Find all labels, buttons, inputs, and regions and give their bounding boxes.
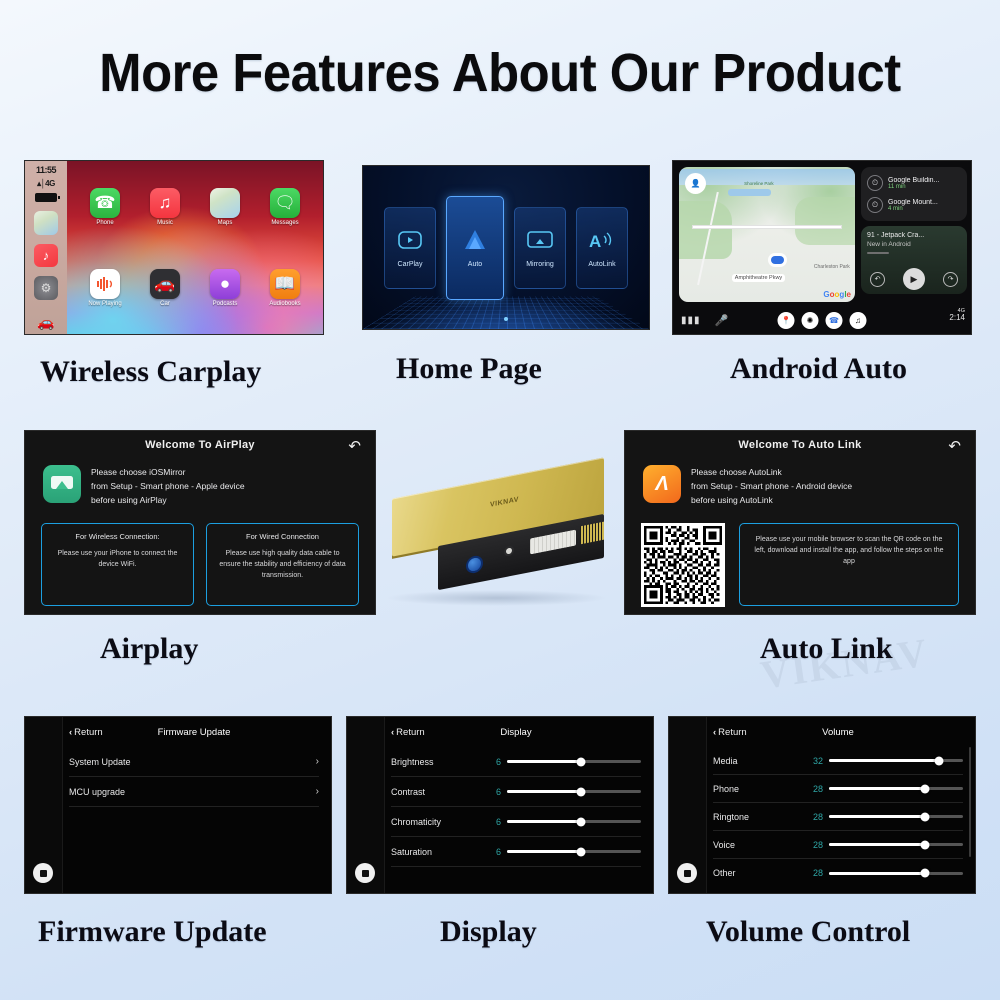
home-card-label: Auto xyxy=(468,261,482,268)
android-auto-icon xyxy=(460,227,490,253)
phone-volume-slider[interactable] xyxy=(829,787,963,790)
apps-grid-icon[interactable]: ▮▮▮ xyxy=(681,315,701,326)
audiobooks-icon: 📖 xyxy=(270,269,300,299)
media-icon[interactable]: ♫ xyxy=(850,312,867,329)
app-label: Podcasts xyxy=(213,301,238,307)
microphone-icon[interactable]: 🎤 xyxy=(715,314,729,327)
box-text: Please use high quality data cable to en… xyxy=(215,548,350,582)
other-volume-slider[interactable] xyxy=(829,872,963,875)
chromaticity-slider[interactable] xyxy=(507,820,641,823)
clock-icon: ⏲ xyxy=(867,197,883,213)
left-rail xyxy=(669,717,707,893)
item-value: 28 xyxy=(799,784,823,794)
time-label: 2:14 xyxy=(949,314,965,323)
carplay-screen[interactable]: 11:55 ▴│4G ♪ ⚙ 🚗 ☎ Phone ♫ Music Maps 🗨 … xyxy=(24,160,324,335)
messages-icon: 🗨 xyxy=(270,188,300,218)
app-label: Maps xyxy=(218,220,233,226)
destination-row[interactable]: ⏲ Google Buildin... 11 min xyxy=(867,172,961,194)
box-heading: For Wired Connection xyxy=(215,532,350,541)
app-label: Car xyxy=(160,301,170,307)
carplay-icon xyxy=(395,227,425,253)
destinations-panel: ⏲ Google Buildin... 11 min ⏲ Google Moun… xyxy=(861,167,967,221)
caption-firmware-update: Firmware Update xyxy=(38,915,267,949)
carplay-app-car[interactable]: 🚗 Car xyxy=(135,248,195,329)
volume-settings-screen[interactable]: Volume ‹Return Media 32 Phone 28 Rington… xyxy=(668,716,976,894)
display-settings-screen[interactable]: Display ‹Return Brightness 6 Contrast 6 … xyxy=(346,716,654,894)
caption-airplay: Airplay xyxy=(100,632,198,666)
map-view[interactable]: Shoreline Park Amphitheatre Pkwy Charles… xyxy=(679,167,855,302)
item-value: 6 xyxy=(477,787,501,797)
product-device-image: VIKNAV xyxy=(378,452,622,612)
item-label: Other xyxy=(713,868,799,878)
home-page-screen[interactable]: CarPlay Auto Mirroring A AutoLink xyxy=(362,165,650,330)
autolink-instruction: Please choose AutoLink from Setup - Smar… xyxy=(691,465,852,507)
item-label: Saturation xyxy=(391,847,477,857)
home-card-auto[interactable]: Auto xyxy=(446,196,504,300)
page-title: More Features About Our Product xyxy=(30,42,970,104)
status-clock: 4G 2:14 xyxy=(949,308,965,323)
screen-title: Display xyxy=(391,727,641,738)
media-progress[interactable] xyxy=(867,252,889,254)
slider-row[interactable]: Other 28 xyxy=(713,859,963,887)
app-label: Phone xyxy=(96,220,113,226)
car-icon[interactable]: 🚗 xyxy=(34,310,58,334)
location-puck-icon xyxy=(771,256,784,264)
airplay-title: Welcome To AirPlay xyxy=(25,439,375,451)
item-label: Media xyxy=(713,756,799,766)
contrast-slider[interactable] xyxy=(507,790,641,793)
screen-title: Volume xyxy=(713,727,963,738)
phone-icon[interactable]: ☎ xyxy=(826,312,843,329)
home-card-label: CarPlay xyxy=(398,261,423,268)
saturation-slider[interactable] xyxy=(507,850,641,853)
carplay-app-messages[interactable]: 🗨 Messages xyxy=(255,167,315,248)
destination-name: Google Mount... xyxy=(888,199,938,206)
page-indicator-dot xyxy=(504,317,508,321)
settings-icon[interactable]: ⚙ xyxy=(34,276,58,300)
autolink-instruction-box: Please use your mobile browser to scan t… xyxy=(739,523,959,606)
box-text: Please use your iPhone to connect the de… xyxy=(50,548,185,570)
autolink-screen[interactable]: Welcome To Auto Link ↶ Λ Please choose A… xyxy=(624,430,976,615)
wired-connection-box: For Wired Connection Please use high qua… xyxy=(206,523,359,606)
instruction-line: before using AirPlay xyxy=(91,493,245,507)
carplay-app-grid: ☎ Phone ♫ Music Maps 🗨 Messages xyxy=(67,161,323,334)
item-value: 32 xyxy=(799,756,823,766)
caption-display: Display xyxy=(440,915,537,949)
map-place-label: Amphitheatre Pkwy xyxy=(732,274,785,282)
item-value: 6 xyxy=(477,817,501,827)
destination-name: Google Buildin... xyxy=(888,177,939,184)
caption-auto-link: Auto Link xyxy=(760,632,893,666)
scrollbar[interactable] xyxy=(969,747,971,857)
svg-text:A: A xyxy=(589,232,601,250)
slider-row[interactable]: Chromaticity 6 xyxy=(391,807,641,837)
voice-volume-slider[interactable] xyxy=(829,843,963,846)
box-text: Please use your mobile browser to scan t… xyxy=(750,534,948,568)
return-label: Return xyxy=(74,727,103,738)
caption-android-auto: Android Auto xyxy=(730,352,907,386)
instruction-line: before using AutoLink xyxy=(691,493,852,507)
media-card[interactable]: 91 - Jetpack Cra... New in Android ↶ ▶ ↷ xyxy=(861,226,967,294)
wireless-connection-box: For Wireless Connection: Please use your… xyxy=(41,523,194,606)
left-rail xyxy=(25,717,63,893)
firmware-update-screen[interactable]: Firmware Update ‹Return System Update › … xyxy=(24,716,332,894)
carplay-app-maps[interactable]: Maps xyxy=(195,167,255,248)
back-arrow-icon[interactable]: ↶ xyxy=(948,437,961,455)
media-title: 91 - Jetpack Cra... xyxy=(867,232,961,239)
media-subtitle: New in Android xyxy=(867,241,961,248)
ringtone-volume-slider[interactable] xyxy=(829,815,963,818)
rewind-icon[interactable]: ↶ xyxy=(870,272,885,287)
slider-row[interactable]: Saturation 6 xyxy=(391,837,641,867)
clock-icon: ⏲ xyxy=(867,175,883,191)
return-button[interactable]: ‹Return xyxy=(391,727,425,738)
battery-icon xyxy=(35,193,57,202)
slider-row[interactable]: Brightness 6 xyxy=(391,747,641,777)
instruction-line: from Setup - Smart phone - Android devic… xyxy=(691,479,852,493)
carplay-app-now-playing[interactable]: Now Playing xyxy=(75,248,135,329)
app-label: Audiobooks xyxy=(269,301,300,307)
chevron-right-icon: › xyxy=(316,786,319,797)
android-auto-taskbar[interactable]: ▮▮▮ 🎤 📍 ✺ ☎ ♫ 4G 2:14 xyxy=(673,306,971,334)
return-button[interactable]: ‹Return xyxy=(69,727,103,738)
home-card-autolink[interactable]: A AutoLink xyxy=(576,207,628,289)
account-icon[interactable]: 👤 xyxy=(685,173,706,194)
music-icon[interactable]: ♪ xyxy=(34,244,58,268)
app-label: Now Playing xyxy=(88,301,121,307)
google-logo: Google xyxy=(823,290,851,299)
autolink-title: Welcome To Auto Link xyxy=(625,439,975,451)
home-button[interactable] xyxy=(677,863,697,883)
media-volume-slider[interactable] xyxy=(829,759,963,762)
carplay-time: 11:55 xyxy=(36,165,56,175)
map-poi-label: Shoreline Park xyxy=(744,181,774,186)
return-label: Return xyxy=(396,727,425,738)
carplay-app-phone[interactable]: ☎ Phone xyxy=(75,167,135,248)
item-value: 28 xyxy=(799,868,823,878)
list-item[interactable]: MCU upgrade › xyxy=(69,777,319,807)
app-label: Messages xyxy=(271,220,298,226)
item-value: 28 xyxy=(799,840,823,850)
home-card-label: Mirroring xyxy=(526,261,554,268)
instruction-line: from Setup - Smart phone - Apple device xyxy=(91,479,245,493)
maps-icon xyxy=(210,188,240,218)
mirroring-icon xyxy=(525,227,555,253)
item-label: Brightness xyxy=(391,757,477,767)
slider-row[interactable]: Voice 28 xyxy=(713,831,963,859)
now-playing-icon xyxy=(90,269,120,299)
forward-icon[interactable]: ↷ xyxy=(943,272,958,287)
list-item[interactable]: System Update › xyxy=(69,747,319,777)
item-value: 28 xyxy=(799,812,823,822)
map-greenspace xyxy=(795,197,855,245)
maps-icon[interactable] xyxy=(34,211,58,235)
destination-eta: 4 min xyxy=(888,206,938,212)
music-icon: ♫ xyxy=(150,188,180,218)
play-icon[interactable]: ▶ xyxy=(903,268,925,290)
left-rail xyxy=(347,717,385,893)
carplay-signal: ▴│4G xyxy=(37,179,55,188)
return-button[interactable]: ‹Return xyxy=(713,727,747,738)
phone-icon: ☎ xyxy=(90,188,120,218)
item-label: Contrast xyxy=(391,787,477,797)
instruction-line: Please choose iOSMirror xyxy=(91,465,245,479)
home-card-carplay[interactable]: CarPlay xyxy=(384,207,436,289)
app-label: Music xyxy=(157,220,173,226)
android-auto-screen[interactable]: Shoreline Park Amphitheatre Pkwy Charles… xyxy=(672,160,972,335)
caption-volume-control: Volume Control xyxy=(706,915,910,949)
slider-row[interactable]: Phone 28 xyxy=(713,775,963,803)
caption-wireless-carplay: Wireless Carplay xyxy=(40,355,261,389)
carplay-app-podcasts[interactable]: ● Podcasts xyxy=(195,248,255,329)
caption-home-page: Home Page xyxy=(396,352,542,386)
autolink-icon: A xyxy=(587,227,617,253)
destination-eta: 11 min xyxy=(888,184,939,190)
item-label: Phone xyxy=(713,784,799,794)
slider-row[interactable]: Media 32 xyxy=(713,747,963,775)
carplay-sidebar[interactable]: 11:55 ▴│4G ♪ ⚙ 🚗 xyxy=(25,161,67,334)
item-label: Chromaticity xyxy=(391,817,477,827)
airplay-instruction: Please choose iOSMirror from Setup - Sma… xyxy=(91,465,245,507)
autolink-icon: Λ xyxy=(643,465,681,503)
item-value: 6 xyxy=(477,847,501,857)
home-button[interactable] xyxy=(33,863,53,883)
instruction-line: Please choose AutoLink xyxy=(691,465,852,479)
screen-title: Firmware Update xyxy=(69,727,319,738)
item-label: Voice xyxy=(713,840,799,850)
box-heading: For Wireless Connection: xyxy=(50,532,185,541)
map-secondary-label: Charleston Park xyxy=(814,264,850,270)
google-icon[interactable]: ✺ xyxy=(802,312,819,329)
car-icon: 🚗 xyxy=(150,269,180,299)
podcasts-icon: ● xyxy=(210,269,240,299)
home-card-mirroring[interactable]: Mirroring xyxy=(514,207,566,289)
item-value: 6 xyxy=(477,757,501,767)
carplay-app-music[interactable]: ♫ Music xyxy=(135,167,195,248)
destination-row[interactable]: ⏲ Google Mount... 4 min xyxy=(867,194,961,216)
home-card-label: AutoLink xyxy=(588,261,615,268)
device-shadow xyxy=(386,590,608,606)
back-arrow-icon[interactable]: ↶ xyxy=(348,437,361,455)
slider-row[interactable]: Contrast 6 xyxy=(391,777,641,807)
return-label: Return xyxy=(718,727,747,738)
home-button[interactable] xyxy=(355,863,375,883)
chevron-right-icon: › xyxy=(316,756,319,767)
airplay-screen[interactable]: Welcome To AirPlay ↶ Please choose iOSMi… xyxy=(24,430,376,615)
qr-code xyxy=(641,523,725,607)
maps-icon[interactable]: 📍 xyxy=(778,312,795,329)
item-label: System Update xyxy=(69,757,155,767)
airplay-icon xyxy=(43,465,81,503)
slider-row[interactable]: Ringtone 28 xyxy=(713,803,963,831)
item-label: MCU upgrade xyxy=(69,787,155,797)
map-water xyxy=(728,189,770,196)
map-road xyxy=(693,226,841,228)
brightness-slider[interactable] xyxy=(507,760,641,763)
item-label: Ringtone xyxy=(713,812,799,822)
carplay-app-audiobooks[interactable]: 📖 Audiobooks xyxy=(255,248,315,329)
